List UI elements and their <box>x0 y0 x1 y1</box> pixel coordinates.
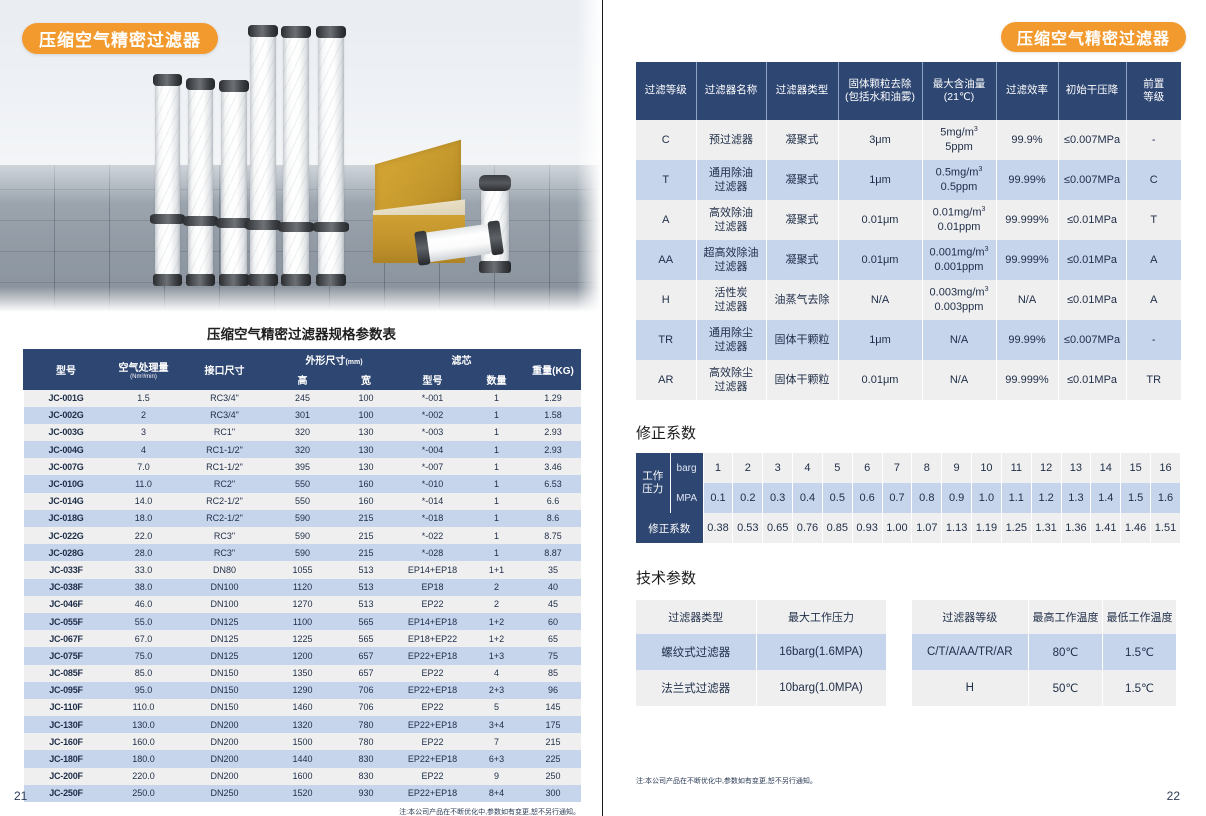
table-row: JC-003G3RC1"320130*-00312.93 <box>24 424 581 441</box>
port-value: DN125 <box>179 647 271 664</box>
airflow-value: 180.0 <box>109 750 179 767</box>
max-oil-value: 0.001mg/m30.001ppm <box>922 240 996 280</box>
coef-cell: 0.53 <box>733 513 763 543</box>
solid-removal-value: 0.01μm <box>838 240 922 280</box>
port-value: DN125 <box>179 630 271 647</box>
col-model: 型号 <box>24 350 109 390</box>
mpa-cell: 1.5 <box>1121 483 1151 513</box>
height-value: 1225 <box>271 630 335 647</box>
width-value: 513 <box>335 561 398 578</box>
table-row: JC-007G7.0RC1-1/2"395130*-00713.46 <box>24 458 581 475</box>
cartridge-body <box>188 89 213 274</box>
coef-cell: 1.31 <box>1031 513 1061 543</box>
airflow-value: 85.0 <box>109 665 179 682</box>
port-value: RC3/4" <box>179 390 271 407</box>
table-row: JC-075F75.0DN1251200657EP22+EP181+375 <box>24 647 581 664</box>
weight-value: 96 <box>526 682 581 699</box>
cartridge-cap-bottom <box>248 274 278 286</box>
pre-stage-value: - <box>1126 120 1181 160</box>
coef-cell: 0.85 <box>822 513 852 543</box>
airflow-value: 220.0 <box>109 768 179 785</box>
coef-cell: 1.00 <box>882 513 912 543</box>
filter-type-value: 固体干颗粒 <box>766 360 838 400</box>
table-row: JC-010G11.0RC2"550160*-01016.53 <box>24 475 581 492</box>
correction-barg-row: 工作压力 barg 12345678910111213141516 <box>636 453 1181 483</box>
port-value: DN200 <box>179 750 271 767</box>
height-value: 550 <box>271 475 335 492</box>
port-value: RC1-1/2" <box>179 458 271 475</box>
airflow-value: 22.0 <box>109 527 179 544</box>
filter-type-value: 固体干颗粒 <box>766 320 838 360</box>
airflow-value: 75.0 <box>109 647 179 664</box>
weight-value: 175 <box>526 716 581 733</box>
col-element-model: 型号 <box>398 370 468 390</box>
cartridge-cap-top <box>153 74 182 86</box>
height-value: 1440 <box>271 750 335 767</box>
col-weight: 重量(KG) <box>526 350 581 390</box>
element-qty-value: 9 <box>468 768 526 785</box>
solid-removal-value: 0.01μm <box>838 360 922 400</box>
col-max-oil-l2: (21℃) <box>944 91 974 103</box>
model: JC-075F <box>24 647 109 664</box>
height-value: 1055 <box>271 561 335 578</box>
col-pre-stage: 前置 等级 <box>1126 62 1181 120</box>
col-solid-removal: 固体颗粒去除 (包括水和油雾) <box>838 62 922 120</box>
element-qty-value: 7 <box>468 733 526 750</box>
model: JC-110F <box>24 699 109 716</box>
element-qty-value: 2+3 <box>468 682 526 699</box>
element-model-value: EP22 <box>398 596 468 613</box>
filter-type-value: 法兰式过滤器 <box>636 670 756 706</box>
element-model-value: *-028 <box>398 544 468 561</box>
port-value: RC2-1/2" <box>179 493 271 510</box>
element-model-value: EP14+EP18 <box>398 561 468 578</box>
airflow-value: 46.0 <box>109 596 179 613</box>
model: JC-160F <box>24 733 109 750</box>
col-solid-removal-l2: (包括水和油雾) <box>845 91 915 103</box>
coef-cell: 1.07 <box>912 513 942 543</box>
element-model-value: *-003 <box>398 424 468 441</box>
height-value: 1350 <box>271 665 335 682</box>
barg-cell: 16 <box>1151 453 1181 483</box>
filter-name-value: 预过滤器 <box>696 120 766 160</box>
filter-cartridge <box>250 25 276 286</box>
element-qty-value: 1+2 <box>468 630 526 647</box>
efficiency-value: N/A <box>996 280 1058 320</box>
col-airflow-label: 空气处理量 <box>119 363 169 374</box>
mpa-cell: 0.5 <box>822 483 852 513</box>
spec-header-row-1: 型号 空气处理量 (Nm³/min) 接口尺寸 外形尺寸(mm) 滤芯 重量(K… <box>24 350 581 370</box>
table-row: JC-038F38.0DN1001120513EP18240 <box>24 579 581 596</box>
table-row: JC-250F250.0DN2501520930EP22+EP188+4300 <box>24 785 581 802</box>
port-value: DN100 <box>179 579 271 596</box>
cartridge-body <box>318 37 344 274</box>
weight-value: 8.87 <box>526 544 581 561</box>
efficiency-value: 99.999% <box>996 200 1058 240</box>
barg-cell: 10 <box>972 453 1002 483</box>
height-value: 320 <box>271 424 335 441</box>
page-badge-left: 压缩空气精密过滤器 <box>22 23 218 54</box>
grade-value: H <box>636 280 696 320</box>
airflow-value: 33.0 <box>109 561 179 578</box>
weight-value: 2.93 <box>526 441 581 458</box>
weight-value: 60 <box>526 613 581 630</box>
model: JC-046F <box>24 596 109 613</box>
solid-removal-value: N/A <box>838 280 922 320</box>
element-model-value: EP22 <box>398 768 468 785</box>
mpa-cell: 1.0 <box>972 483 1002 513</box>
model: JC-180F <box>24 750 109 767</box>
height-value: 1460 <box>271 699 335 716</box>
model: JC-002G <box>24 407 109 424</box>
temperature-table: 过滤器等级 最高工作温度 最低工作温度 C/T/A/AA/TR/AR80℃1.5… <box>912 600 1178 706</box>
element-model-value: *-022 <box>398 527 468 544</box>
catalog-spread: 压缩空气精密过滤器 压缩空气精密过滤器规格参数表 型号 空气处理量 (Nm³/m… <box>0 0 1206 816</box>
weight-value: 225 <box>526 750 581 767</box>
temperature-header-row: 过滤器等级 最高工作温度 最低工作温度 <box>912 600 1177 634</box>
grade-value: H <box>912 670 1029 706</box>
width-value: 565 <box>335 630 398 647</box>
grade-value: AA <box>636 240 696 280</box>
element-model-value: EP22 <box>398 699 468 716</box>
cartridge-body <box>283 37 309 274</box>
coef-cell: 1.19 <box>972 513 1002 543</box>
element-model-value: EP14+EP18 <box>398 613 468 630</box>
width-value: 100 <box>335 407 398 424</box>
cartridge-cap-bottom <box>316 274 346 286</box>
initial-drop-value: ≤0.007MPa <box>1058 160 1126 200</box>
col-temp-min: 最低工作温度 <box>1103 600 1177 634</box>
cartridge-body <box>250 36 276 274</box>
barg-cell: 14 <box>1091 453 1121 483</box>
grade-value: C/T/A/AA/TR/AR <box>912 634 1029 670</box>
width-value: 160 <box>335 493 398 510</box>
correction-mpa-row: MPA 0.10.20.30.40.50.60.70.80.91.01.11.2… <box>636 483 1181 513</box>
airflow-value: 2 <box>109 407 179 424</box>
weight-value: 45 <box>526 596 581 613</box>
port-value: RC3" <box>179 544 271 561</box>
coef-cell: 1.36 <box>1061 513 1091 543</box>
efficiency-value: 99.999% <box>996 240 1058 280</box>
mpa-cell: 1.1 <box>1001 483 1031 513</box>
model: JC-010G <box>24 475 109 492</box>
max-temp-value: 50℃ <box>1029 670 1103 706</box>
filter-name-value: 通用除油过滤器 <box>696 160 766 200</box>
efficiency-value: 99.99% <box>996 320 1058 360</box>
width-value: 657 <box>335 665 398 682</box>
solid-removal-value: 1μm <box>838 160 922 200</box>
mpa-cell: 0.9 <box>942 483 972 513</box>
photo-bottom-fade <box>0 287 603 313</box>
port-value: DN200 <box>179 733 271 750</box>
element-model-value: *-004 <box>398 441 468 458</box>
port-value: DN200 <box>179 768 271 785</box>
width-value: 706 <box>335 699 398 716</box>
col-filter-type: 过滤器类型 <box>766 62 838 120</box>
weight-value: 8.75 <box>526 527 581 544</box>
coef-cell: 1.13 <box>942 513 972 543</box>
element-qty-value: 1 <box>468 493 526 510</box>
correction-coefficient-table: 工作压力 barg 12345678910111213141516 MPA 0.… <box>636 453 1181 543</box>
table-row: JC-055F55.0DN1251100565EP14+EP181+260 <box>24 613 581 630</box>
barg-cell: 8 <box>912 453 942 483</box>
element-qty-value: 1+1 <box>468 561 526 578</box>
cartridge-collar <box>183 216 218 226</box>
col-airflow: 空气处理量 (Nm³/min) <box>109 350 179 390</box>
filter-type-value: 油蒸气去除 <box>766 280 838 320</box>
element-qty-value: 1 <box>468 441 526 458</box>
height-value: 245 <box>271 390 335 407</box>
filter-name-value: 高效除尘过滤器 <box>696 360 766 400</box>
pre-stage-value: T <box>1126 200 1181 240</box>
weight-value: 75 <box>526 647 581 664</box>
pre-stage-value: TR <box>1126 360 1181 400</box>
model: JC-022G <box>24 527 109 544</box>
element-qty-value: 5 <box>468 699 526 716</box>
cartridge-cap-top <box>186 78 215 90</box>
width-value: 160 <box>335 475 398 492</box>
model: JC-001G <box>24 390 109 407</box>
max-pressure-value: 10barg(1.0MPA) <box>756 670 886 706</box>
cartridge-cap-top <box>316 26 346 38</box>
coef-cell: 1.41 <box>1091 513 1121 543</box>
left-page: 压缩空气精密过滤器 压缩空气精密过滤器规格参数表 型号 空气处理量 (Nm³/m… <box>0 0 603 816</box>
model: JC-033F <box>24 561 109 578</box>
mpa-cell: 1.2 <box>1031 483 1061 513</box>
col-dimensions: 外形尺寸(mm) <box>271 350 398 370</box>
photo-right-fade <box>577 0 603 313</box>
pre-stage-value: C <box>1126 160 1181 200</box>
coef-cell: 0.38 <box>703 513 733 543</box>
element-qty-value: 1+3 <box>468 647 526 664</box>
table-row: JC-160F160.0DN2001500780EP227215 <box>24 733 581 750</box>
solid-removal-value: 0.01μm <box>838 200 922 240</box>
coef-cell: 0.76 <box>793 513 823 543</box>
tech-tables-row: 过滤器类型 最大工作压力 螺纹式过滤器16barg(1.6MPA)法兰式过滤器1… <box>636 600 1206 706</box>
pre-stage-value: A <box>1126 240 1181 280</box>
col-press-max: 最大工作压力 <box>756 600 886 634</box>
weight-value: 1.29 <box>526 390 581 407</box>
grade-value: AR <box>636 360 696 400</box>
height-value: 590 <box>271 510 335 527</box>
grade-value: TR <box>636 320 696 360</box>
mpa-cell: 1.3 <box>1061 483 1091 513</box>
filter-name-value: 高效除油过滤器 <box>696 200 766 240</box>
height-value: 550 <box>271 493 335 510</box>
weight-value: 6.53 <box>526 475 581 492</box>
max-oil-value: N/A <box>922 360 996 400</box>
grade-table-body: C预过滤器凝聚式3μm5mg/m35ppm99.9%≤0.007MPa-T通用除… <box>636 120 1181 400</box>
table-row: JC-130F130.0DN2001320780EP22+EP183+4175 <box>24 716 581 733</box>
width-value: 100 <box>335 390 398 407</box>
model: JC-200F <box>24 768 109 785</box>
solid-removal-value: 1μm <box>838 320 922 360</box>
width-value: 130 <box>335 458 398 475</box>
filter-type-value: 凝聚式 <box>766 120 838 160</box>
efficiency-value: 99.99% <box>996 160 1058 200</box>
element-qty-value: 3+4 <box>468 716 526 733</box>
element-qty-value: 1 <box>468 475 526 492</box>
model: JC-014G <box>24 493 109 510</box>
height-value: 1290 <box>271 682 335 699</box>
weight-value: 8.6 <box>526 510 581 527</box>
airflow-value: 4 <box>109 441 179 458</box>
filter-type-value: 凝聚式 <box>766 240 838 280</box>
table-row: AR高效除尘过滤器固体干颗粒0.01μmN/A99.999%≤0.01MPaTR <box>636 360 1181 400</box>
height-value: 1600 <box>271 768 335 785</box>
col-width: 宽 <box>335 370 398 390</box>
correction-coef-row: 修正系数 0.380.530.650.760.850.931.001.071.1… <box>636 513 1181 543</box>
temperature-table-head: 过滤器等级 最高工作温度 最低工作温度 <box>912 600 1177 634</box>
table-row: JC-014G14.0RC2-1/2"550160*-01416.6 <box>24 493 581 510</box>
height-value: 1100 <box>271 613 335 630</box>
solid-removal-value: 3μm <box>838 120 922 160</box>
table-row: A高效除油过滤器凝聚式0.01μm0.01mg/m30.01ppm99.999%… <box>636 200 1181 240</box>
port-value: DN100 <box>179 596 271 613</box>
port-value: DN150 <box>179 682 271 699</box>
cartridge-collar <box>150 214 185 224</box>
col-element: 滤芯 <box>398 350 526 370</box>
table-row: JC-001G1.5RC3/4"245100*-00111.29 <box>24 390 581 407</box>
cartridge-cap-top <box>281 26 311 38</box>
element-qty-value: 6+3 <box>468 750 526 767</box>
right-page-number: 22 <box>1167 789 1180 803</box>
element-model-value: *-007 <box>398 458 468 475</box>
port-value: RC3" <box>179 527 271 544</box>
table-row: H活性炭过滤器油蒸气去除N/A0.003mg/m30.003ppmN/A≤0.0… <box>636 280 1181 320</box>
initial-drop-value: ≤0.01MPa <box>1058 240 1126 280</box>
model: JC-003G <box>24 424 109 441</box>
cartridge-cap-bottom <box>153 274 182 286</box>
height-value: 301 <box>271 407 335 424</box>
width-value: 706 <box>335 682 398 699</box>
col-height: 高 <box>271 370 335 390</box>
col-filter-grade: 过滤等级 <box>636 62 696 120</box>
height-value: 1500 <box>271 733 335 750</box>
port-value: RC1-1/2" <box>179 441 271 458</box>
pre-stage-value: A <box>1126 280 1181 320</box>
table-row: JC-033F33.0DN801055513EP14+EP181+135 <box>24 561 581 578</box>
pressure-header-row: 过滤器类型 最大工作压力 <box>636 600 886 634</box>
table-row: T通用除油过滤器凝聚式1μm0.5mg/m30.5ppm99.99%≤0.007… <box>636 160 1181 200</box>
barg-cell: 5 <box>822 453 852 483</box>
port-value: RC1" <box>179 424 271 441</box>
mpa-cell: 0.7 <box>882 483 912 513</box>
cartridge-body <box>221 91 247 274</box>
mpa-label: MPA <box>670 483 703 513</box>
cartridge-cap-top <box>248 25 278 37</box>
filter-name-value: 超高效除油过滤器 <box>696 240 766 280</box>
height-value: 320 <box>271 441 335 458</box>
filter-type-value: 凝聚式 <box>766 200 838 240</box>
cartridge-collar <box>278 222 314 232</box>
initial-drop-value: ≤0.01MPa <box>1058 200 1126 240</box>
element-model-value: EP22 <box>398 665 468 682</box>
table-row: JC-110F110.0DN1501460706EP225145 <box>24 699 581 716</box>
max-pressure-table: 过滤器类型 最大工作压力 螺纹式过滤器16barg(1.6MPA)法兰式过滤器1… <box>636 600 887 706</box>
model: JC-055F <box>24 613 109 630</box>
product-photo: 压缩空气精密过滤器 <box>0 0 603 313</box>
table-row: JC-180F180.0DN2001440830EP22+EP186+3225 <box>24 750 581 767</box>
weight-value: 3.46 <box>526 458 581 475</box>
filter-type-value: 凝聚式 <box>766 160 838 200</box>
barg-cell: 1 <box>703 453 733 483</box>
height-value: 1520 <box>271 785 335 802</box>
page-divider <box>602 0 603 816</box>
element-qty-value: 1 <box>468 510 526 527</box>
element-qty-value: 4 <box>468 665 526 682</box>
element-qty-value: 1+2 <box>468 613 526 630</box>
element-qty-value: 8+4 <box>468 785 526 802</box>
spec-table-body: JC-001G1.5RC3/4"245100*-00111.29JC-002G2… <box>24 390 581 803</box>
model: JC-130F <box>24 716 109 733</box>
grade-value: A <box>636 200 696 240</box>
initial-drop-value: ≤0.01MPa <box>1058 360 1126 400</box>
model: JC-007G <box>24 458 109 475</box>
table-row: C预过滤器凝聚式3μm5mg/m35ppm99.9%≤0.007MPa- <box>636 120 1181 160</box>
element-qty-value: 1 <box>468 424 526 441</box>
port-value: DN125 <box>179 613 271 630</box>
model: JC-018G <box>24 510 109 527</box>
working-pressure-label: 工作压力 <box>636 453 670 513</box>
table-row: TR通用除尘过滤器固体干颗粒1μmN/A99.99%≤0.007MPa- <box>636 320 1181 360</box>
initial-drop-value: ≤0.007MPa <box>1058 320 1126 360</box>
width-value: 215 <box>335 544 398 561</box>
col-dimensions-unit: (mm) <box>345 359 362 366</box>
element-model-value: EP18 <box>398 579 468 596</box>
airflow-value: 7.0 <box>109 458 179 475</box>
width-value: 565 <box>335 613 398 630</box>
width-value: 215 <box>335 510 398 527</box>
element-qty-value: 2 <box>468 596 526 613</box>
airflow-value: 130.0 <box>109 716 179 733</box>
col-press-filter-type: 过滤器类型 <box>636 600 756 634</box>
airflow-value: 250.0 <box>109 785 179 802</box>
max-oil-value: N/A <box>922 320 996 360</box>
cartridge-cap-top <box>219 80 249 92</box>
barg-cell: 15 <box>1121 453 1151 483</box>
element-model-value: EP22 <box>398 733 468 750</box>
element-qty-value: 2 <box>468 579 526 596</box>
max-oil-value: 0.003mg/m30.003ppm <box>922 280 996 320</box>
left-page-number: 21 <box>14 789 27 803</box>
height-value: 1320 <box>271 716 335 733</box>
efficiency-value: 99.9% <box>996 120 1058 160</box>
mpa-cell: 1.4 <box>1091 483 1121 513</box>
element-model-value: *-002 <box>398 407 468 424</box>
model: JC-004G <box>24 441 109 458</box>
cartridge-collar <box>313 222 349 232</box>
cartridge-collar <box>245 220 281 230</box>
table-row: JC-085F85.0DN1501350657EP22485 <box>24 665 581 682</box>
mpa-cell: 0.2 <box>733 483 763 513</box>
element-qty-value: 1 <box>468 458 526 475</box>
element-model-value: *-014 <box>398 493 468 510</box>
col-dimensions-label: 外形尺寸 <box>305 356 345 367</box>
table-row: JC-002G2RC3/4"301100*-00211.58 <box>24 407 581 424</box>
filter-cartridge <box>283 26 309 286</box>
col-element-qty: 数量 <box>468 370 526 390</box>
weight-value: 40 <box>526 579 581 596</box>
height-value: 1200 <box>271 647 335 664</box>
model: JC-250F <box>24 785 109 802</box>
col-initial-drop: 初始干压降 <box>1058 62 1126 120</box>
pre-stage-value: - <box>1126 320 1181 360</box>
table-row: AA超高效除油过滤器凝聚式0.01μm0.001mg/m30.001ppm99.… <box>636 240 1181 280</box>
airflow-value: 11.0 <box>109 475 179 492</box>
width-value: 130 <box>335 441 398 458</box>
port-value: DN80 <box>179 561 271 578</box>
